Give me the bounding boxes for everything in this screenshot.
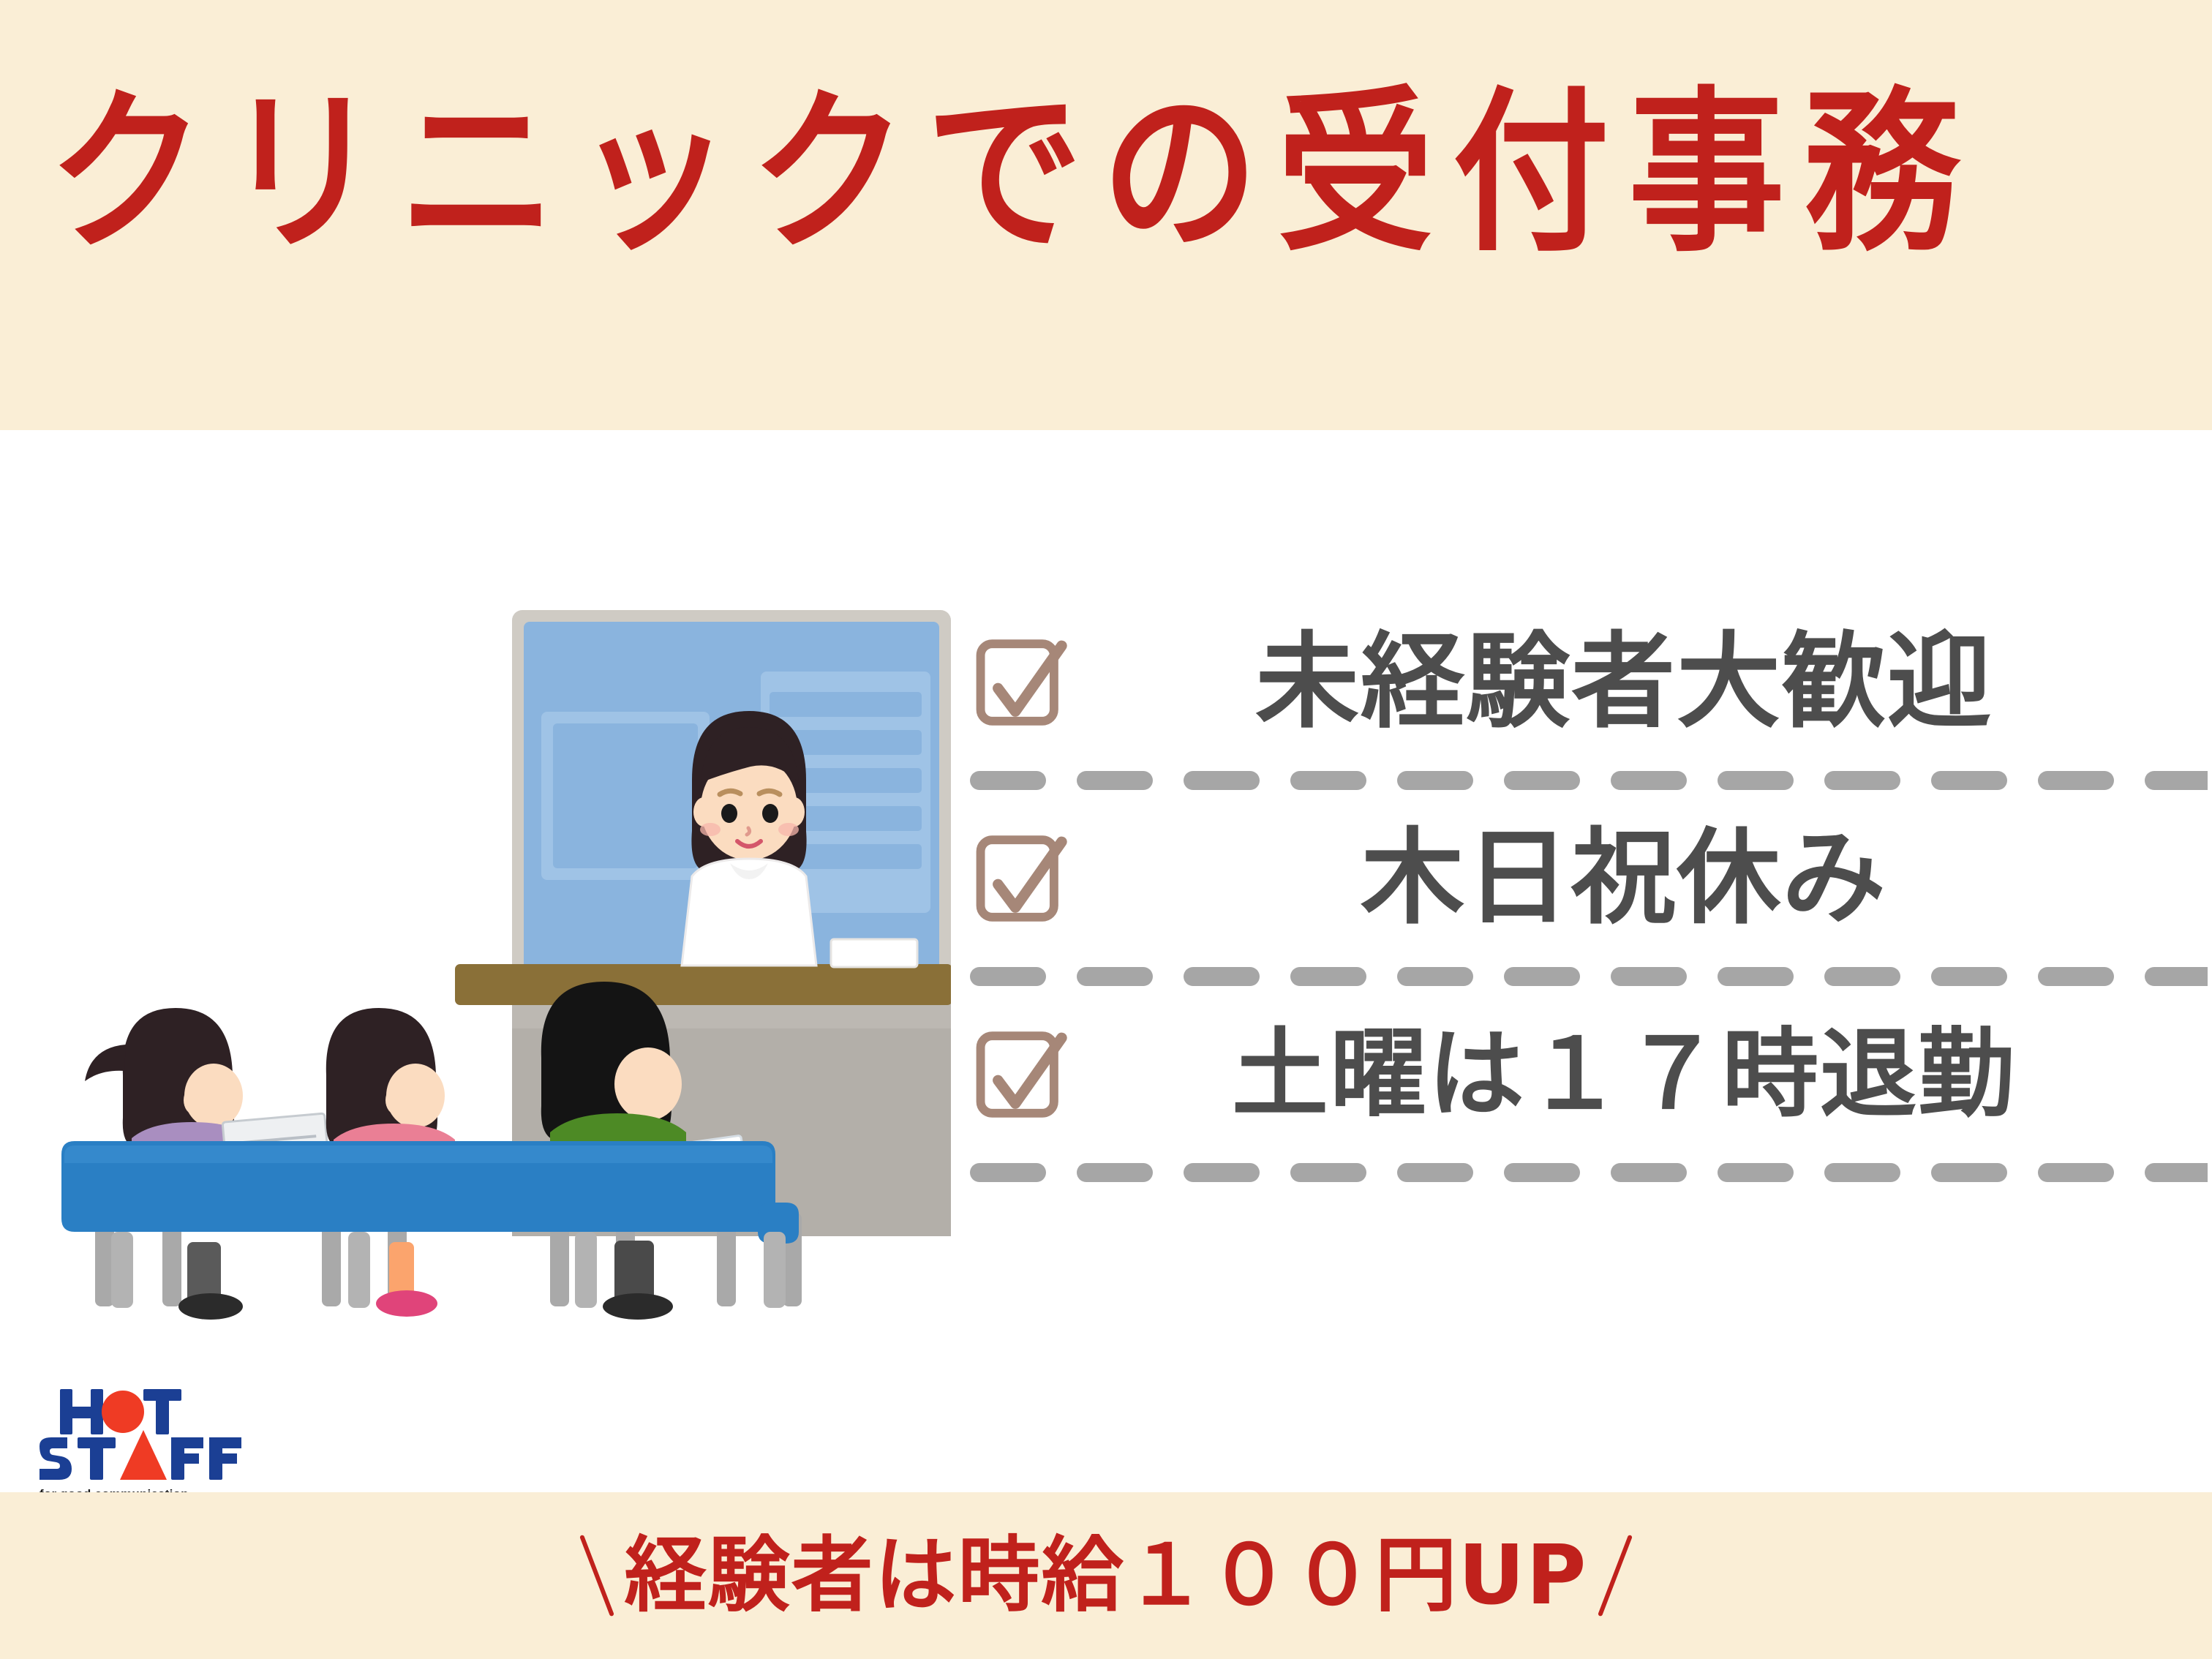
feature-divider-2	[970, 967, 2208, 986]
feature-divider-3	[970, 1163, 2208, 1182]
left-slash-decoration	[580, 1535, 615, 1617]
feature-label-3: 土曜は１７時退勤	[1097, 1026, 2180, 1123]
feature-item-2: 木日祝休み	[973, 809, 2180, 948]
right-slash-decoration	[1598, 1535, 1633, 1617]
feature-list: 未経験者大歓迎 木日祝休み	[973, 613, 2180, 1201]
feature-label-1: 未経験者大歓迎	[1097, 631, 2180, 734]
feature-divider-1	[970, 771, 2208, 790]
footer-promo-text: 経験者は時給１００円UP	[624, 1535, 1587, 1617]
checked-box-icon	[973, 830, 1069, 927]
hot-staff-logo: for good communication	[35, 1385, 247, 1505]
footer-band: 経験者は時給１００円UP	[0, 1492, 2212, 1659]
header-band: クリニックでの受付事務	[0, 0, 2212, 430]
main-content: for good communication 未経験者大歓迎	[0, 430, 2212, 1492]
logo-red-circle	[102, 1391, 144, 1433]
feature-item-3: 土曜は１７時退勤	[973, 1005, 2180, 1144]
feature-item-1: 未経験者大歓迎	[973, 613, 2180, 752]
logo-red-triangle	[120, 1430, 167, 1480]
receptionist-figure	[682, 711, 816, 966]
job-ad-poster: クリニックでの受付事務	[0, 0, 2212, 1659]
feature-label-2: 木日祝休み	[1097, 827, 2180, 930]
checked-box-icon	[973, 634, 1069, 731]
clinic-reception-illustration	[29, 584, 951, 1381]
page-title: クリニックでの受付事務	[48, 86, 2170, 262]
checked-box-icon	[973, 1026, 1069, 1123]
